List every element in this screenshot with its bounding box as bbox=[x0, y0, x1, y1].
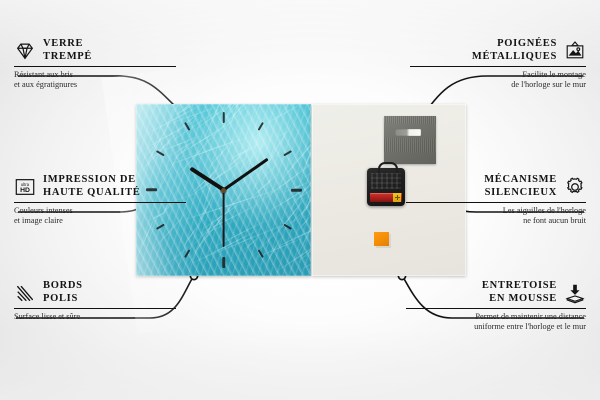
clock-tick bbox=[283, 224, 292, 230]
feature-description: Couleurs intenses et image claire bbox=[14, 206, 200, 227]
feature-verre-trempe: VERRE TREMPÉ Résistant aux bris et aux é… bbox=[14, 38, 192, 91]
minute-hand bbox=[223, 158, 269, 191]
second-hand bbox=[223, 190, 225, 247]
clock-tick bbox=[155, 150, 164, 156]
feature-description: Surface lisse et sûre bbox=[14, 312, 192, 322]
foam-spacer-pad bbox=[374, 232, 389, 246]
feature-description: Résistant aux bris et aux égratignures bbox=[14, 70, 192, 91]
hands-cap bbox=[221, 188, 226, 193]
gear-icon bbox=[564, 176, 586, 198]
feature-rule bbox=[406, 308, 586, 309]
hanging-frame-icon bbox=[564, 40, 586, 62]
feature-poignees-metalliques: POIGNÉES MÉTALLIQUES Facilite le montage… bbox=[394, 38, 586, 91]
feature-rule bbox=[14, 202, 186, 203]
svg-text:HD: HD bbox=[20, 187, 30, 194]
feature-title: POIGNÉES MÉTALLIQUES bbox=[472, 38, 557, 63]
clock-tick bbox=[222, 112, 225, 123]
clock-tick bbox=[184, 122, 190, 131]
feature-entretoise-en-mousse: ENTRETOISE EN MOUSSE Permet de maintenir… bbox=[390, 280, 586, 333]
clock-tick bbox=[222, 257, 225, 268]
feature-description: Les aiguilles de l'horloge ne font aucun… bbox=[390, 206, 586, 227]
feature-title: ENTRETOISE EN MOUSSE bbox=[482, 280, 557, 305]
clock-tick bbox=[283, 150, 292, 156]
diamond-icon bbox=[14, 40, 36, 62]
feature-description: Facilite le montage de l'horloge sur le … bbox=[394, 70, 586, 91]
clock-tick bbox=[291, 189, 302, 192]
feature-mecanisme-silencieux: MÉCANISME SILENCIEUX Les aiguilles de l'… bbox=[390, 174, 586, 227]
feature-title: BORDS POLIS bbox=[43, 280, 83, 305]
foam-spacer-icon bbox=[564, 282, 586, 304]
ultra-hd-icon: ultra HD bbox=[14, 176, 36, 198]
metal-hanger-plate-icon bbox=[384, 116, 436, 164]
feature-rule bbox=[14, 66, 176, 67]
feature-impression-haute-qualite: ultra HD IMPRESSION DE HAUTE QUALITÉ Cou… bbox=[14, 174, 200, 227]
feature-title: MÉCANISME SILENCIEUX bbox=[484, 174, 557, 199]
feature-title: VERRE TREMPÉ bbox=[43, 38, 92, 63]
hanger-slot bbox=[395, 129, 421, 136]
feature-title: IMPRESSION DE HAUTE QUALITÉ bbox=[43, 174, 141, 199]
feature-rule bbox=[406, 202, 586, 203]
polished-edges-icon bbox=[14, 282, 36, 304]
feature-bords-polis: BORDS POLIS Surface lisse et sûre bbox=[14, 280, 192, 322]
feature-rule bbox=[14, 308, 176, 309]
feature-description: Permet de maintenir une distance uniform… bbox=[390, 312, 586, 333]
clock-tick bbox=[257, 122, 263, 131]
clock-tick bbox=[184, 249, 190, 258]
feature-rule bbox=[410, 66, 586, 67]
clock-tick bbox=[257, 249, 263, 258]
infographic-canvas: VERRE TREMPÉ Résistant aux bris et aux é… bbox=[0, 0, 600, 400]
